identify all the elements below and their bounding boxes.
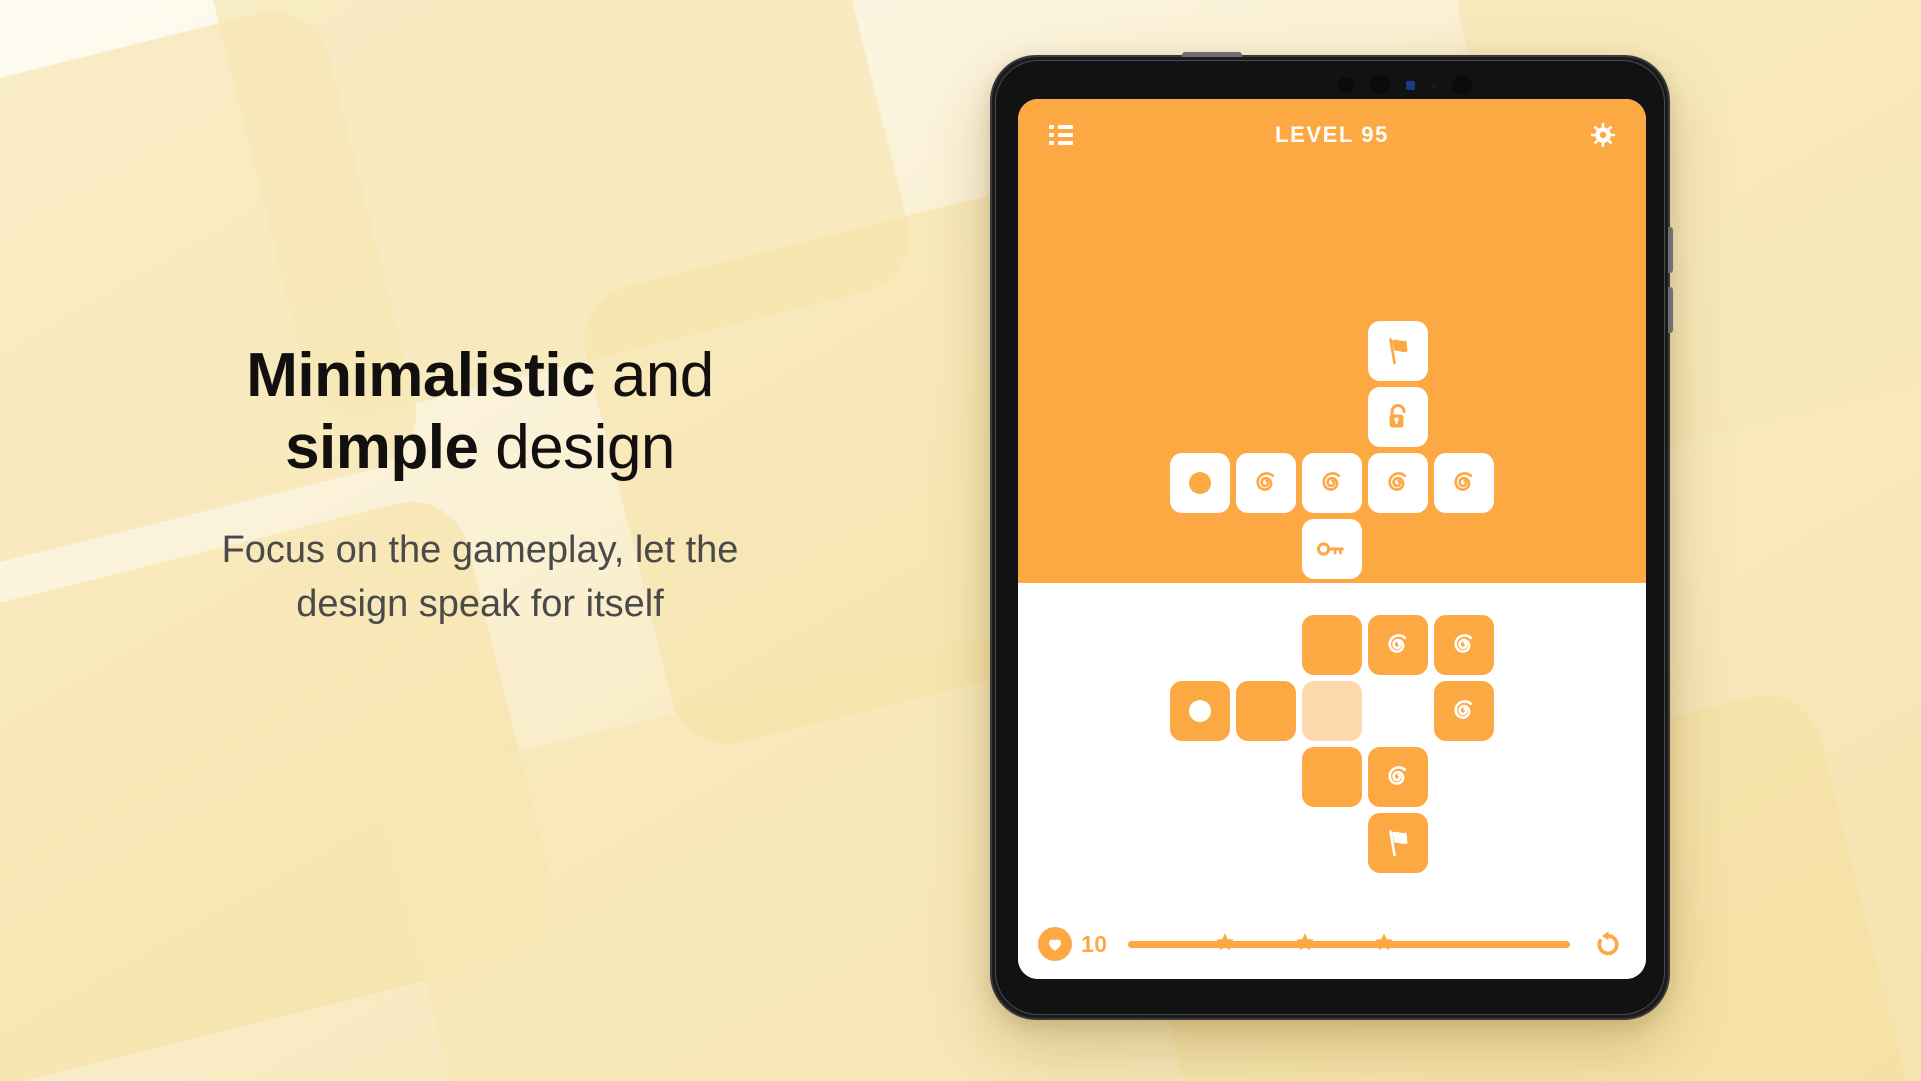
grid-cell-empty	[1368, 519, 1428, 579]
grid-cell-empty	[1236, 321, 1296, 381]
grid-cell-empty	[1236, 615, 1296, 675]
grid-tile-orange-spiral[interactable]	[1434, 681, 1494, 741]
grid-cell-empty	[1434, 813, 1494, 873]
gear-icon	[1590, 122, 1616, 148]
grid-tile-orange-circle[interactable]	[1170, 681, 1230, 741]
grid-tile-orange-spiral[interactable]	[1434, 615, 1494, 675]
tablet-screen: LEVEL 95	[1018, 99, 1646, 979]
grid-cell-empty	[1434, 747, 1494, 807]
spiral-icon	[1447, 694, 1481, 728]
player-grid	[1018, 615, 1646, 939]
grid-cell-empty	[1170, 519, 1230, 579]
headline-bold-1: Minimalistic	[246, 341, 595, 410]
headline: Minimalistic and simple design	[0, 340, 960, 484]
restart-button[interactable]	[1590, 926, 1626, 962]
spiral-icon	[1447, 466, 1481, 500]
heart-badge	[1038, 927, 1072, 961]
headline-bold-2: simple	[285, 413, 478, 482]
camera-icon	[1370, 75, 1390, 95]
headline-line-2: simple design	[120, 412, 840, 484]
progress-track	[1128, 941, 1570, 948]
subtitle: Focus on the gameplay, let the design sp…	[0, 524, 960, 632]
list-icon	[1049, 125, 1073, 145]
grid-tile-orange-spiral[interactable]	[1368, 615, 1428, 675]
camera-icon	[1452, 75, 1472, 95]
progress-bar[interactable]	[1128, 931, 1570, 957]
grid-cell-empty	[1236, 387, 1296, 447]
progress-star-2	[1294, 931, 1316, 958]
circle-icon	[1185, 468, 1215, 498]
grid-cell-empty	[1170, 747, 1230, 807]
headline-rest-1: and	[595, 341, 714, 410]
grid-tile-peach-none[interactable]	[1302, 681, 1362, 741]
tablet-device: LEVEL 95	[990, 55, 1670, 1020]
menu-button[interactable]	[1044, 118, 1078, 152]
grid-tile-white-lock[interactable]	[1368, 387, 1428, 447]
grid-cell-empty	[1302, 387, 1362, 447]
grid-tile-orange-none[interactable]	[1302, 747, 1362, 807]
sensor-icon	[1338, 77, 1354, 93]
grid-tile-orange-spiral[interactable]	[1368, 747, 1428, 807]
hud-bar: 10	[1018, 909, 1646, 979]
progress-star-3	[1373, 931, 1395, 958]
flag-icon	[1382, 335, 1414, 367]
spiral-icon	[1249, 466, 1283, 500]
grid-cell-empty	[1170, 615, 1230, 675]
subtitle-line-2: design speak for itself	[140, 578, 820, 632]
grid-tile-orange-flag[interactable]	[1368, 813, 1428, 873]
circle-icon	[1185, 696, 1215, 726]
power-button[interactable]	[1182, 52, 1242, 57]
grid-cell-empty	[1236, 813, 1296, 873]
grid-cell-empty	[1170, 321, 1230, 381]
spiral-icon	[1447, 628, 1481, 662]
grid-tile-white-key[interactable]	[1302, 519, 1362, 579]
heart-icon	[1046, 935, 1064, 953]
headline-rest-2: design	[478, 413, 674, 482]
grid-tile-white-spiral[interactable]	[1368, 453, 1428, 513]
grid-cell-empty	[1236, 747, 1296, 807]
sensor-array	[992, 71, 1668, 99]
lock-icon	[1383, 401, 1413, 433]
subtitle-line-1: Focus on the gameplay, let the	[140, 524, 820, 578]
grid-tile-white-flag[interactable]	[1368, 321, 1428, 381]
restart-icon	[1593, 929, 1623, 959]
flag-icon	[1382, 827, 1414, 859]
grid-cell-empty	[1170, 387, 1230, 447]
spiral-icon	[1381, 466, 1415, 500]
grid-cell-empty	[1434, 519, 1494, 579]
volume-down-button[interactable]	[1668, 287, 1673, 333]
grid-cell-empty	[1302, 321, 1362, 381]
grid-cell-empty	[1434, 321, 1494, 381]
spiral-icon	[1381, 760, 1415, 794]
grid-cell-empty	[1434, 387, 1494, 447]
marketing-copy: Minimalistic and simple design Focus on …	[0, 340, 960, 632]
lives-count: 10	[1081, 931, 1108, 958]
volume-up-button[interactable]	[1668, 227, 1673, 273]
grid-tile-orange-none[interactable]	[1302, 615, 1362, 675]
target-panel: LEVEL 95	[1018, 99, 1646, 583]
grid-tile-orange-none[interactable]	[1236, 681, 1296, 741]
sensor-icon	[1431, 83, 1436, 88]
status-led-icon	[1406, 81, 1415, 90]
grid-tile-white-spiral[interactable]	[1434, 453, 1494, 513]
promo-page: Minimalistic and simple design Focus on …	[0, 0, 1921, 1081]
grid-cell-empty	[1302, 813, 1362, 873]
game-header: LEVEL 95	[1018, 99, 1646, 171]
spiral-icon	[1315, 466, 1349, 500]
grid-tile-white-spiral[interactable]	[1236, 453, 1296, 513]
lives-indicator: 10	[1038, 927, 1108, 961]
settings-button[interactable]	[1586, 118, 1620, 152]
grid-cell-empty	[1236, 519, 1296, 579]
headline-line-1: Minimalistic and	[120, 340, 840, 412]
grid-tile-white-circle[interactable]	[1170, 453, 1230, 513]
player-panel: 10	[1018, 583, 1646, 979]
grid-cell-empty	[1170, 813, 1230, 873]
grid-tile-white-spiral[interactable]	[1302, 453, 1362, 513]
key-icon	[1316, 539, 1348, 559]
spiral-icon	[1381, 628, 1415, 662]
progress-star-1	[1214, 931, 1236, 958]
page-title: LEVEL 95	[1018, 122, 1646, 148]
grid-cell-empty	[1368, 681, 1428, 741]
